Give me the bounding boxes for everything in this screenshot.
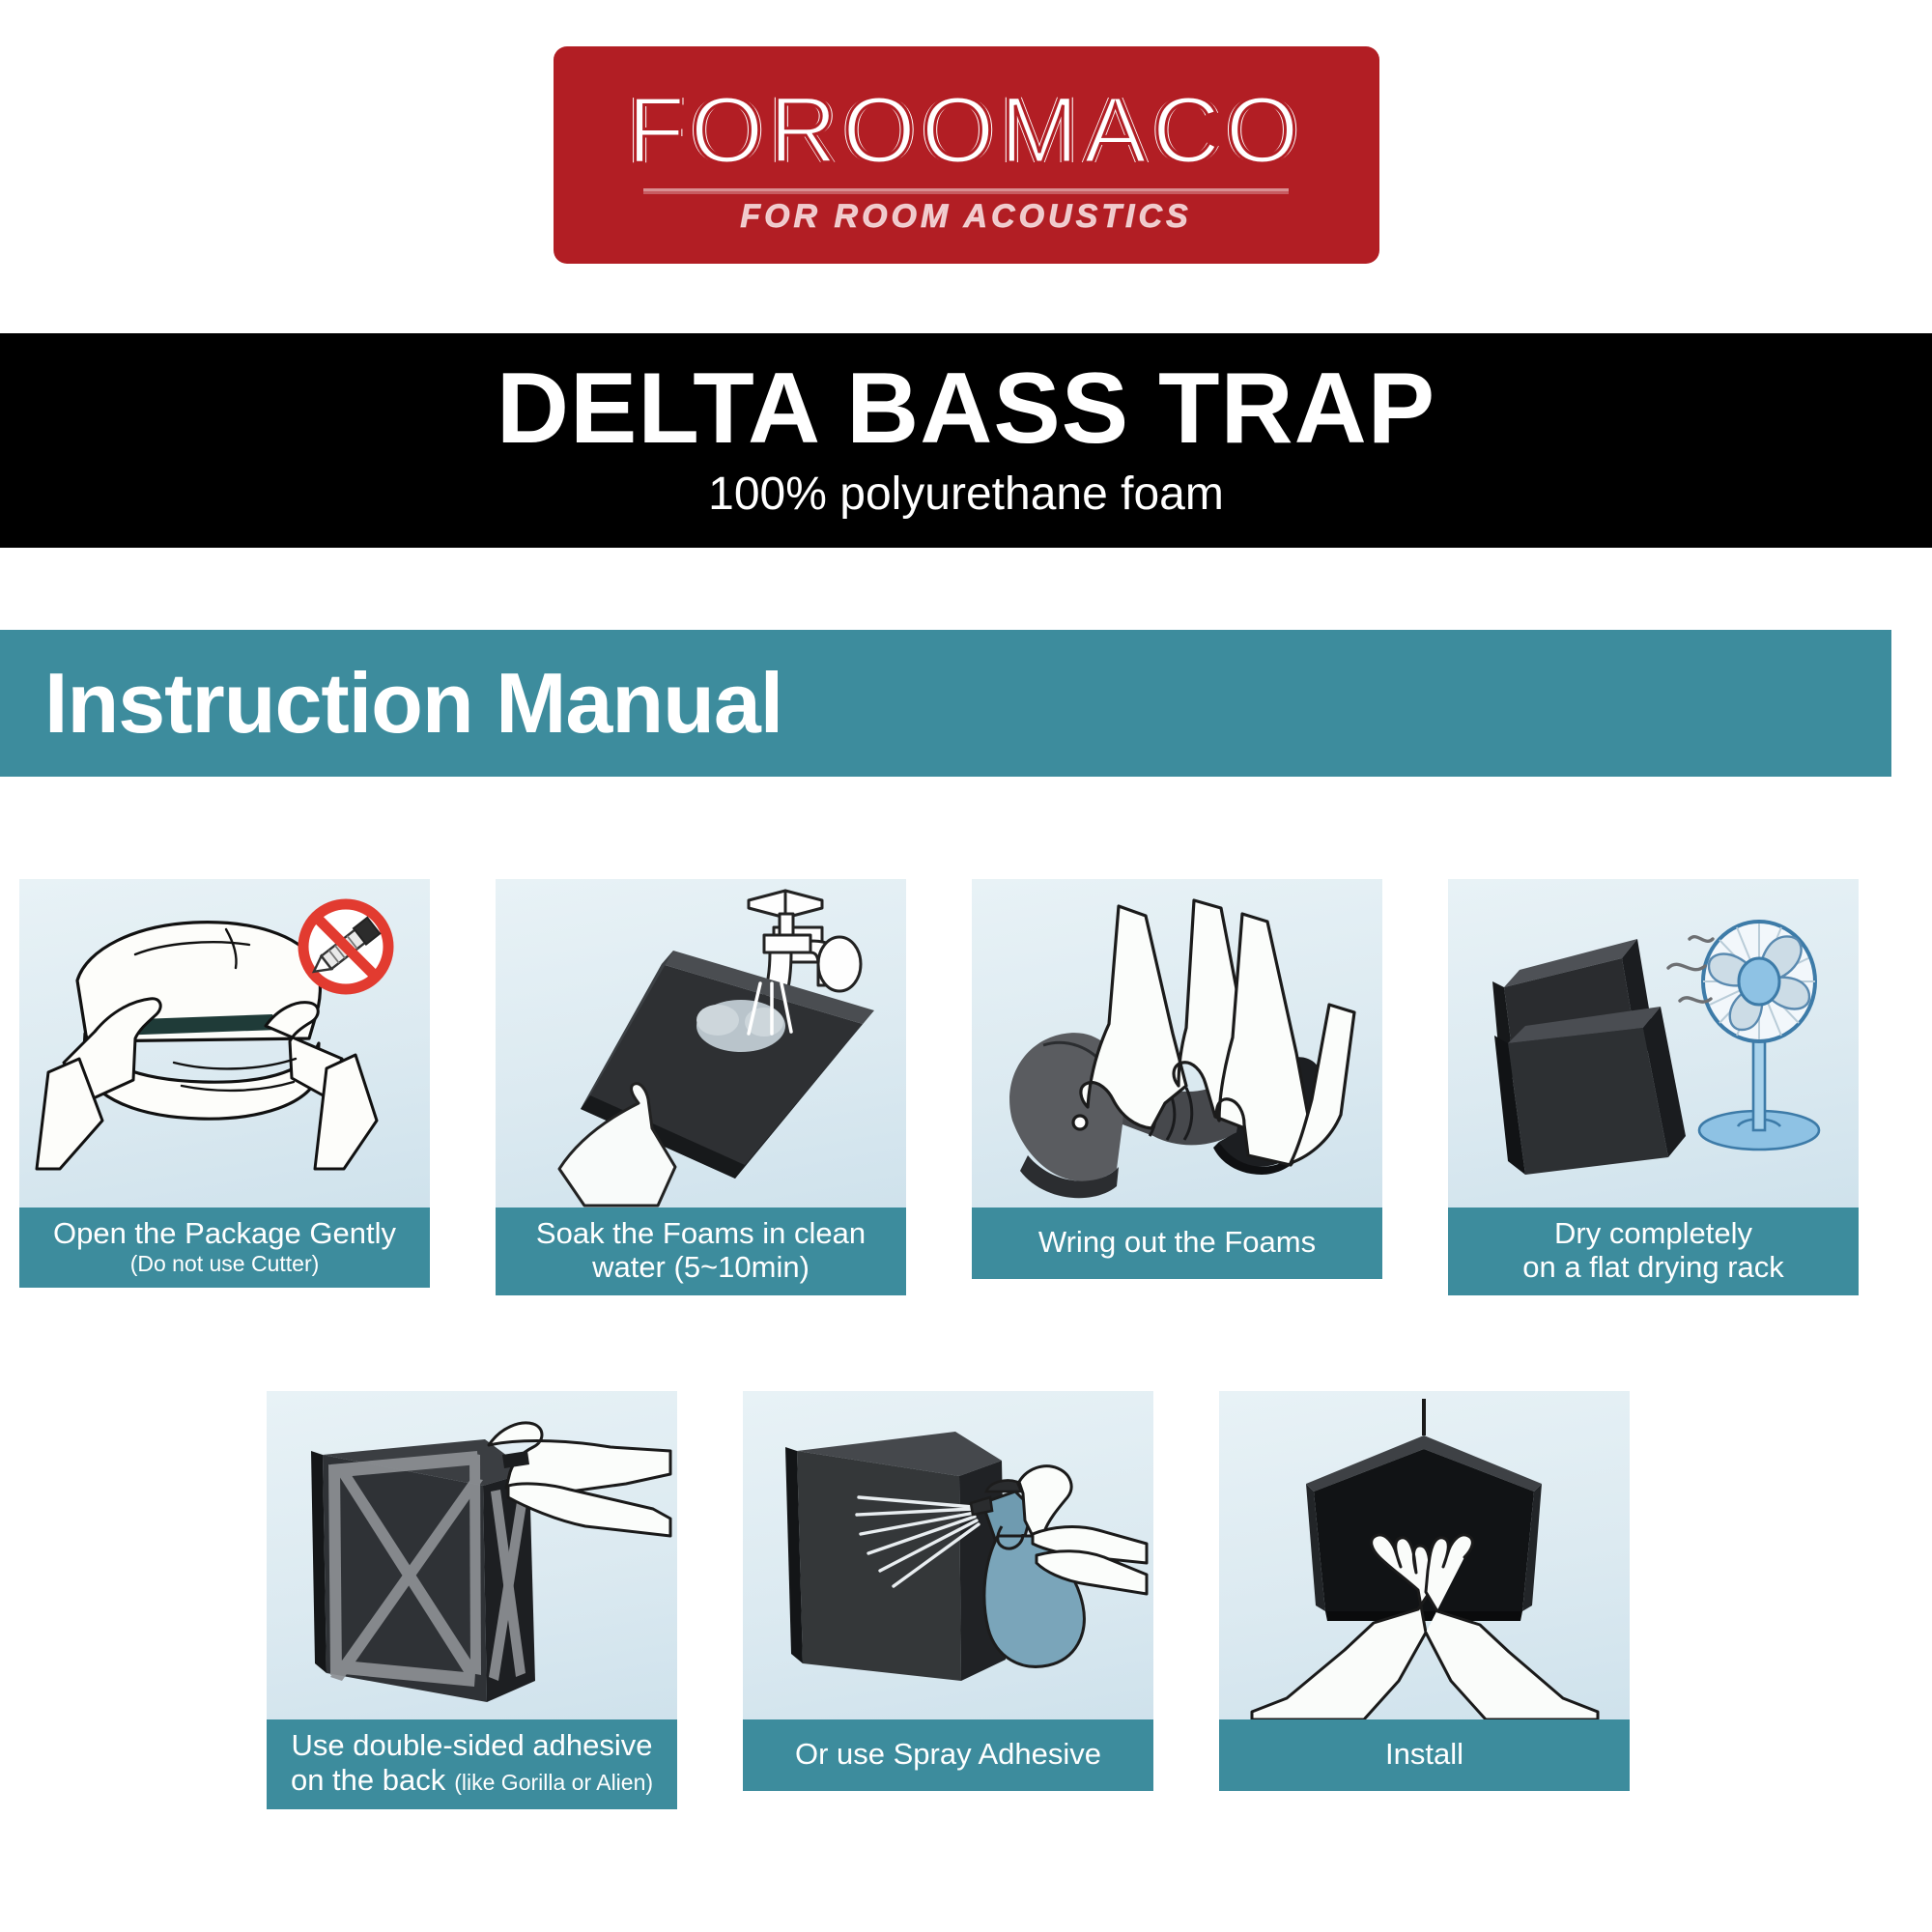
step-spray-adhesive: Or use Spray Adhesive: [743, 1391, 1153, 1809]
caption-line-1: Open the Package Gently: [53, 1217, 396, 1251]
instruction-manual-page: FOROOMACO FOR ROOM ACOUSTICS DELTA BASS …: [0, 0, 1932, 1932]
hands-pressing: [1252, 1535, 1598, 1719]
step-open-package: Open the Package Gently (Do not use Cutt…: [19, 879, 430, 1295]
caption-line-1: Or use Spray Adhesive: [795, 1738, 1101, 1772]
caption-line-1: Dry completely: [1554, 1217, 1752, 1251]
step-soak-foams: Soak the Foams in clean water (5~10min): [496, 879, 906, 1295]
caption-line-2: (Do not use Cutter): [130, 1251, 320, 1276]
step-caption: Or use Spray Adhesive: [743, 1719, 1153, 1791]
caption-line-1: Wring out the Foams: [1038, 1226, 1316, 1260]
caption-line-2: water (5~10min): [592, 1251, 810, 1285]
step-caption: Use double-sided adhesive on the back (l…: [267, 1719, 677, 1809]
caption-line-2: on the back: [291, 1763, 445, 1798]
brand-tagline: FOR ROOM ACOUSTICS: [740, 200, 1191, 233]
brand-logo: FOROOMACO FOR ROOM ACOUSTICS: [0, 46, 1932, 264]
brand-wordmark: FOROOMACO: [628, 83, 1305, 177]
logo-divider: [643, 188, 1289, 191]
illustration-open-package: [19, 879, 430, 1207]
illustration-install-in-corner: [1219, 1391, 1630, 1719]
steps-row-one: Open the Package Gently (Do not use Cutt…: [19, 879, 1915, 1295]
step-dry-completely: Dry completely on a flat drying rack: [1448, 879, 1859, 1295]
step-double-sided-adhesive: Use double-sided adhesive on the back (l…: [267, 1391, 677, 1809]
caption-line-1: Install: [1385, 1738, 1463, 1772]
caption-line-1: Use double-sided adhesive: [292, 1729, 653, 1763]
illustration-double-sided-tape: [267, 1391, 677, 1719]
product-title-bar: DELTA BASS TRAP 100% polyurethane foam: [0, 333, 1932, 548]
caption-line-2-row: on the back (like Gorilla or Alien): [291, 1763, 653, 1798]
banner-heading: Instruction Manual: [44, 661, 782, 746]
product-title: DELTA BASS TRAP: [497, 357, 1435, 460]
instruction-manual-banner: Instruction Manual: [0, 630, 1891, 777]
illustration-wring-foams: [972, 879, 1382, 1207]
logo-plate: FOROOMACO FOR ROOM ACOUSTICS: [554, 46, 1379, 264]
fan-icon: [1699, 922, 1819, 1150]
step-caption: Open the Package Gently (Do not use Cutt…: [19, 1207, 430, 1288]
caption-line-2: on a flat drying rack: [1522, 1251, 1784, 1285]
illustration-spray-adhesive: [743, 1391, 1153, 1719]
foam-wedge-front: [1494, 1007, 1686, 1175]
product-subtitle: 100% polyurethane foam: [708, 466, 1224, 524]
step-caption: Soak the Foams in clean water (5~10min): [496, 1207, 906, 1295]
step-caption: Wring out the Foams: [972, 1207, 1382, 1279]
foam-block: [785, 1432, 1006, 1681]
illustration-dry-with-fan: [1448, 879, 1859, 1207]
caption-line-1: Soak the Foams in clean: [536, 1217, 866, 1251]
no-cutter-icon: [303, 904, 388, 989]
caption-line-2-note: (like Gorilla or Alien): [454, 1770, 653, 1796]
step-caption: Install: [1219, 1719, 1630, 1791]
illustration-soak-under-faucet: [496, 879, 906, 1207]
steps-row-two: Use double-sided adhesive on the back (l…: [267, 1391, 1667, 1809]
step-install: Install: [1219, 1391, 1630, 1809]
step-caption: Dry completely on a flat drying rack: [1448, 1207, 1859, 1295]
step-wring-foams: Wring out the Foams: [972, 879, 1382, 1295]
